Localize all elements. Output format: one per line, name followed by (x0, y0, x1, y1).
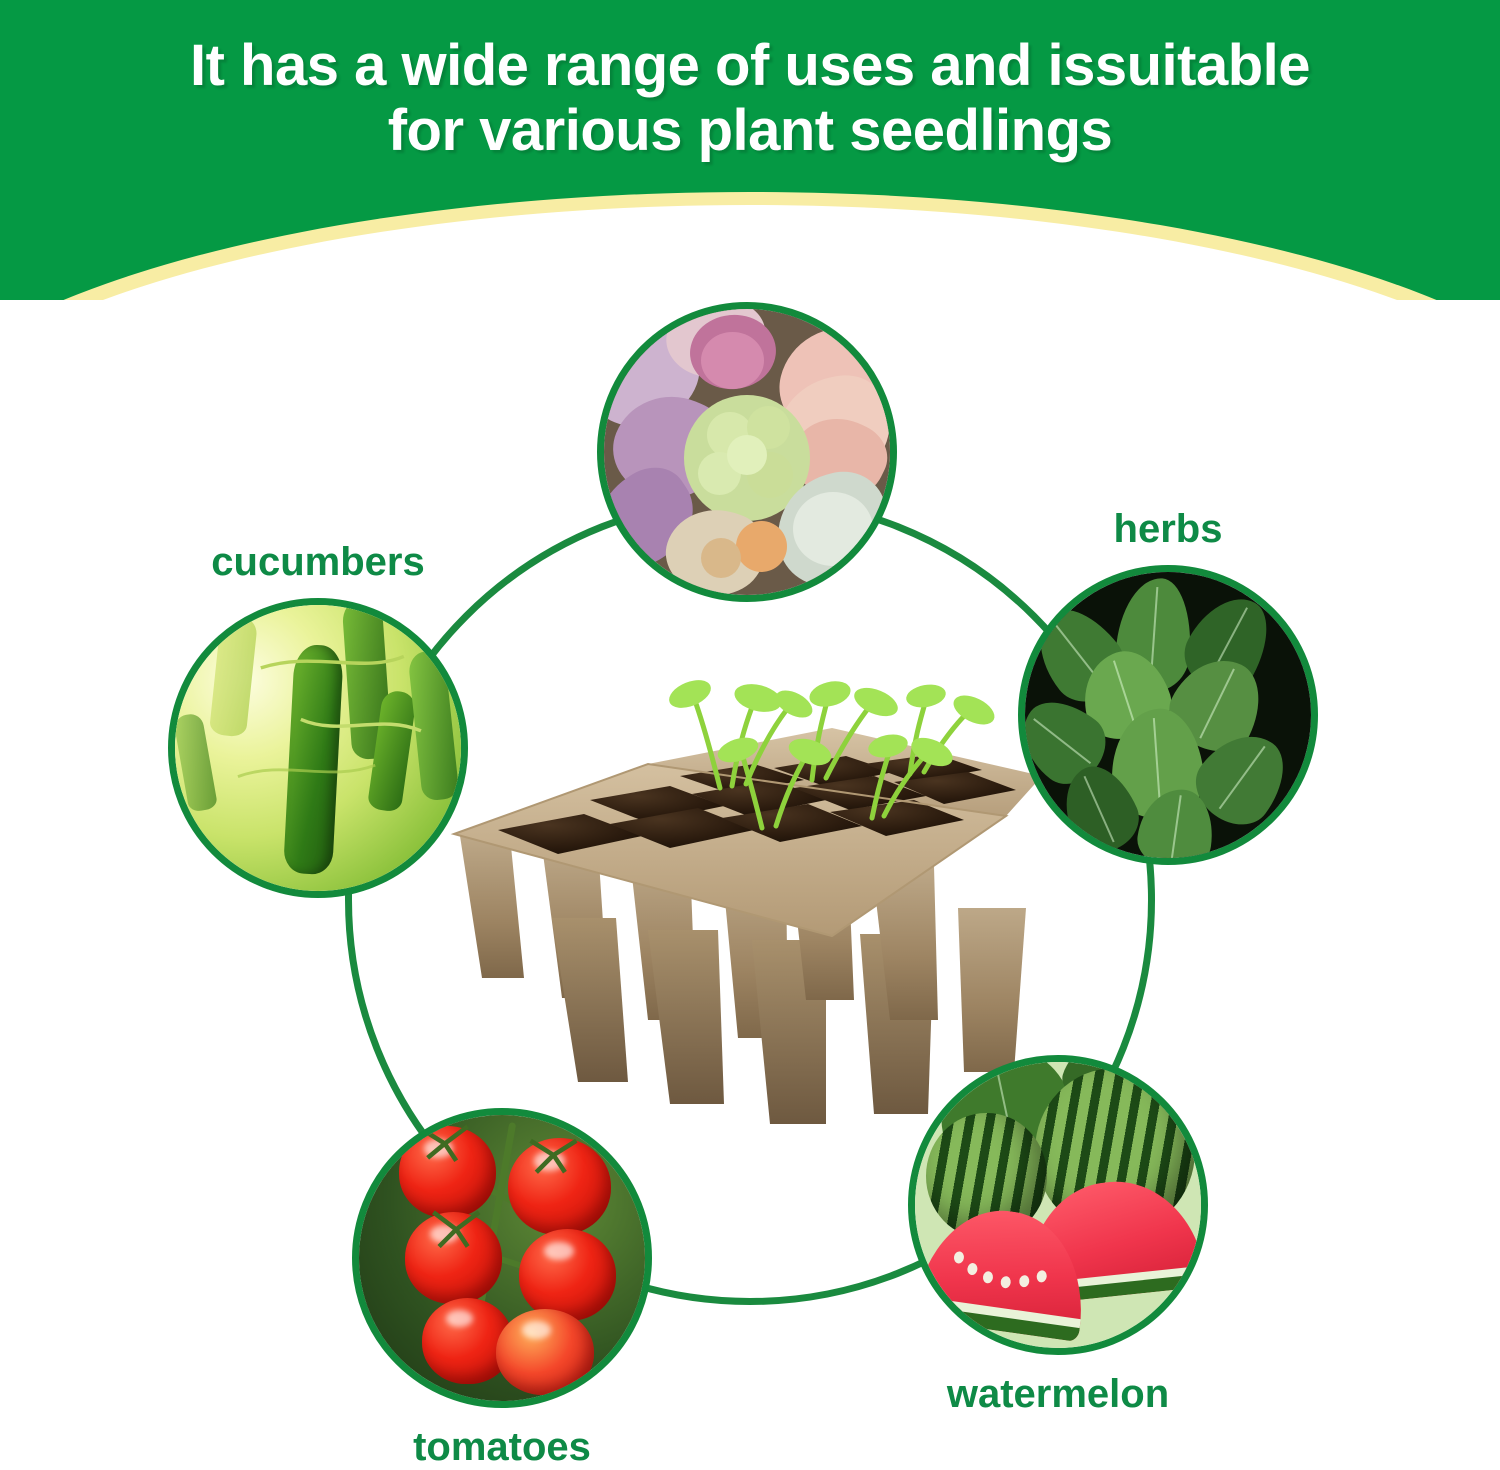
page-title: It has a wide range of uses and issuitab… (0, 34, 1500, 164)
page-title-line-1: It has a wide range of uses and issuitab… (0, 34, 1500, 99)
mint-leaves-scene (1025, 572, 1311, 858)
category-label-herbs: herbs (1018, 507, 1318, 552)
header-banner: It has a wide range of uses and issuitab… (0, 0, 1500, 300)
category-photo-watermelon (908, 1055, 1208, 1355)
category-photo-cucumbers (168, 598, 468, 898)
category-node-herbs[interactable]: herbs (1018, 565, 1318, 865)
benefits-diagram: flowers (0, 230, 1500, 1453)
tomato-vine-scene (359, 1115, 645, 1401)
category-node-flowers[interactable]: flowers (597, 302, 897, 602)
category-node-cucumbers[interactable]: cucumbers (168, 598, 468, 898)
category-label-tomatoes: tomatoes (352, 1425, 652, 1470)
category-photo-tomatoes (352, 1108, 652, 1408)
category-node-watermelon[interactable]: watermelon (908, 1055, 1208, 1355)
cucumber-vine-scene (175, 605, 461, 891)
category-label-watermelon: watermelon (908, 1372, 1208, 1417)
category-node-tomatoes[interactable]: tomatoes (352, 1108, 652, 1408)
page-title-line-2: for various plant seedlings (0, 99, 1500, 164)
succulents-scene (604, 309, 890, 595)
category-photo-herbs (1018, 565, 1318, 865)
category-label-cucumbers: cucumbers (168, 540, 468, 585)
watermelon-scene (915, 1062, 1201, 1348)
category-photo-flowers (597, 302, 897, 602)
